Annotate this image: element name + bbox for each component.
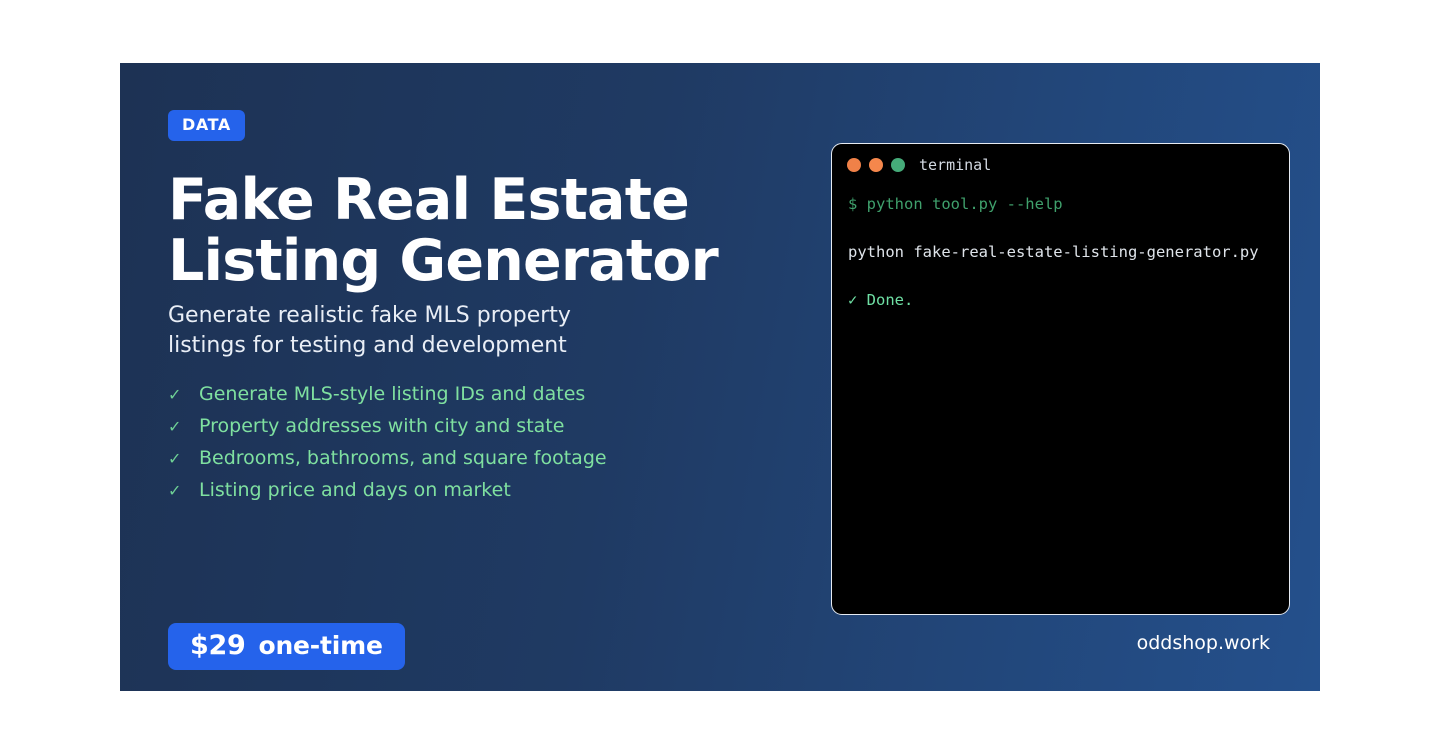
terminal-titlebar[interactable]: terminal (832, 144, 1289, 186)
price-amount: $29 (190, 632, 245, 659)
terminal-line: $ python tool.py --help (848, 192, 1273, 216)
feature-label: Listing price and days on market (199, 474, 511, 506)
price-term: one-time (258, 633, 382, 658)
category-badge: DATA (168, 110, 245, 141)
terminal-title: terminal (919, 156, 991, 174)
check-icon: ✓ (168, 475, 199, 507)
page-title: Fake Real Estate Listing Generator (168, 170, 808, 292)
terminal-window[interactable]: terminal $ python tool.py --helppython f… (831, 143, 1290, 615)
feature-label: Property addresses with city and state (199, 410, 564, 442)
promo-card: DATA Fake Real Estate Listing Generator … (120, 63, 1320, 691)
feature-list: ✓Generate MLS-style listing IDs and date… (168, 378, 607, 506)
minimize-dot[interactable] (869, 158, 883, 172)
site-domain: oddshop.work (1137, 632, 1270, 654)
check-icon: ✓ (168, 443, 199, 475)
check-icon: ✓ (168, 411, 199, 443)
terminal-output: $ python tool.py --helppython fake-real-… (832, 186, 1289, 312)
terminal-line: python fake-real-estate-listing-generato… (848, 240, 1273, 264)
feature-item: ✓Property addresses with city and state (168, 410, 607, 442)
feature-item: ✓Bedrooms, bathrooms, and square footage (168, 442, 607, 474)
close-dot[interactable] (847, 158, 861, 172)
feature-label: Generate MLS-style listing IDs and dates (199, 378, 585, 410)
check-icon: ✓ (168, 379, 199, 411)
card-left-column: DATA Fake Real Estate Listing Generator … (168, 63, 828, 691)
feature-item: ✓Listing price and days on market (168, 474, 607, 506)
terminal-line: ✓ Done. (848, 288, 1273, 312)
feature-item: ✓Generate MLS-style listing IDs and date… (168, 378, 607, 410)
maximize-dot[interactable] (891, 158, 905, 172)
feature-label: Bedrooms, bathrooms, and square footage (199, 442, 607, 474)
product-subtitle: Generate realistic fake MLS property lis… (168, 301, 638, 361)
price-badge[interactable]: $29 one-time (168, 623, 405, 670)
